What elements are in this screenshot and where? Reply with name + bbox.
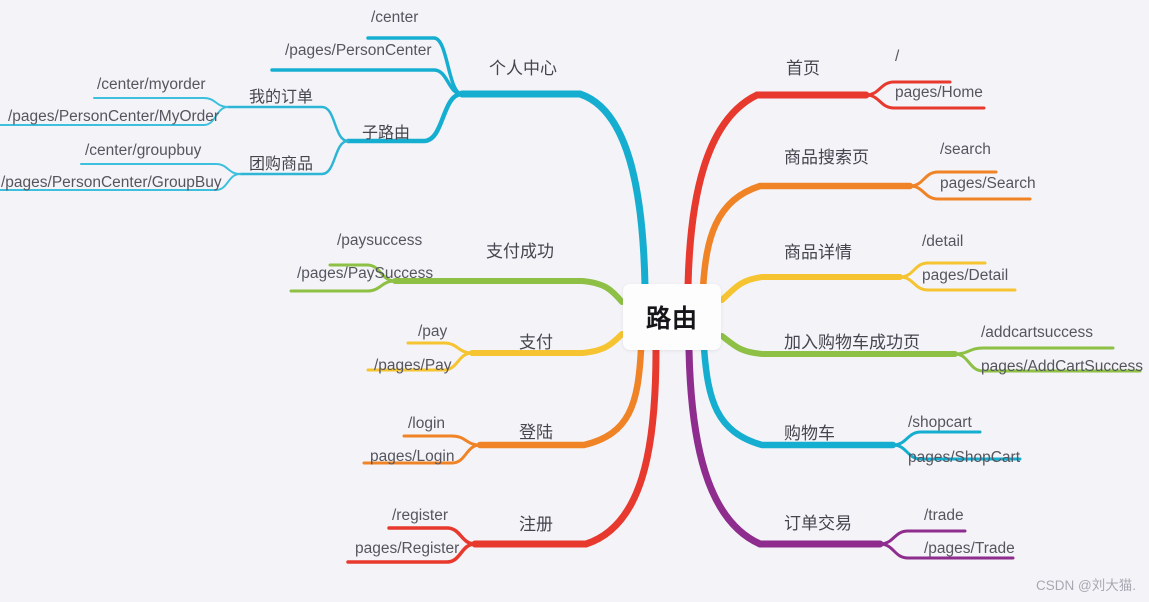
- leaf-myorder-page[interactable]: /pages/PersonCenter/MyOrder: [8, 109, 219, 125]
- node-label-detail[interactable]: 商品详情: [784, 244, 852, 261]
- node-label-search[interactable]: 商品搜索页: [784, 149, 869, 166]
- leaf-paysuccess-page[interactable]: /pages/PaySuccess: [297, 266, 433, 282]
- leaf-myorder-route[interactable]: /center/myorder: [97, 77, 206, 93]
- leaf-personcenter-page[interactable]: /pages/PersonCenter: [285, 43, 431, 59]
- leaf-shopcart-route[interactable]: /shopcart: [908, 415, 972, 431]
- leaf-home-route[interactable]: /: [895, 49, 899, 65]
- node-label-register[interactable]: 注册: [519, 516, 553, 533]
- trunk-detail: [722, 277, 900, 300]
- leaf-detail-page[interactable]: pages/Detail: [922, 268, 1008, 284]
- node-label-myorder[interactable]: 我的订单: [249, 90, 313, 106]
- trunk-paysuccess: [395, 281, 622, 302]
- node-label-personcenter[interactable]: 个人中心: [489, 60, 557, 77]
- leaf-trade-page[interactable]: /pages/Trade: [924, 541, 1015, 557]
- trunk-search: [703, 186, 910, 288]
- leaf-pay-route[interactable]: /pay: [418, 324, 447, 340]
- watermark: CSDN @刘大猫.: [1036, 574, 1136, 594]
- node-label-addcart[interactable]: 加入购物车成功页: [784, 334, 920, 351]
- fork-pay-1: [408, 343, 472, 353]
- leaf-home-page[interactable]: pages/Home: [895, 85, 983, 101]
- leaf-login-page[interactable]: pages/Login: [370, 449, 454, 465]
- leaf-login-route[interactable]: /login: [408, 416, 445, 432]
- leaf-addcart-page[interactable]: pages/AddCartSuccess: [981, 359, 1143, 375]
- fork-shopcart-1: [893, 432, 980, 445]
- node-label-shopcart[interactable]: 购物车: [784, 425, 835, 442]
- branch-myorder: [228, 107, 348, 141]
- fork-myorder-1: [94, 98, 228, 107]
- node-label-groupbuy[interactable]: 团购商品: [249, 157, 313, 173]
- leaf-register-route[interactable]: /register: [392, 508, 448, 524]
- mindmap-canvas: 路由 首页 / pages/Home 商品搜索页 /search pages/S…: [0, 0, 1149, 602]
- node-label-trade[interactable]: 订单交易: [784, 515, 852, 532]
- leaf-pay-page[interactable]: /pages/Pay: [374, 358, 452, 374]
- leaf-groupbuy-route[interactable]: /center/groupbuy: [85, 143, 201, 159]
- root-node[interactable]: 路由: [623, 284, 721, 350]
- fork-login-1: [404, 436, 480, 445]
- fork-paysuccess-2: [291, 281, 395, 291]
- trunk-login: [480, 350, 641, 445]
- leaf-detail-route[interactable]: /detail: [922, 234, 963, 250]
- fork-addcart-1: [955, 348, 1113, 354]
- fork-groupbuy-1: [81, 164, 240, 174]
- node-label-subroute[interactable]: 子路由: [362, 126, 410, 142]
- leaf-paysuccess-route[interactable]: /paysuccess: [337, 233, 422, 249]
- trunk-register: [475, 350, 656, 544]
- root-label: 路由: [646, 299, 698, 335]
- leaf-shopcart-page[interactable]: pages/ShopCart: [908, 450, 1020, 466]
- leaf-personcenter-route[interactable]: /center: [371, 10, 418, 26]
- node-label-pay[interactable]: 支付: [519, 334, 553, 351]
- leaf-addcart-route[interactable]: /addcartsuccess: [981, 325, 1093, 341]
- leaf-register-page[interactable]: pages/Register: [355, 541, 459, 557]
- leaf-search-page[interactable]: pages/Search: [940, 176, 1036, 192]
- leaf-search-route[interactable]: /search: [940, 142, 991, 158]
- node-label-login[interactable]: 登陆: [519, 424, 553, 441]
- leaf-groupbuy-page[interactable]: /pages/PersonCenter/GroupBuy: [1, 175, 222, 191]
- node-label-home[interactable]: 首页: [786, 60, 820, 77]
- node-label-paysuccess[interactable]: 支付成功: [486, 243, 554, 260]
- leaf-trade-route[interactable]: /trade: [924, 508, 964, 524]
